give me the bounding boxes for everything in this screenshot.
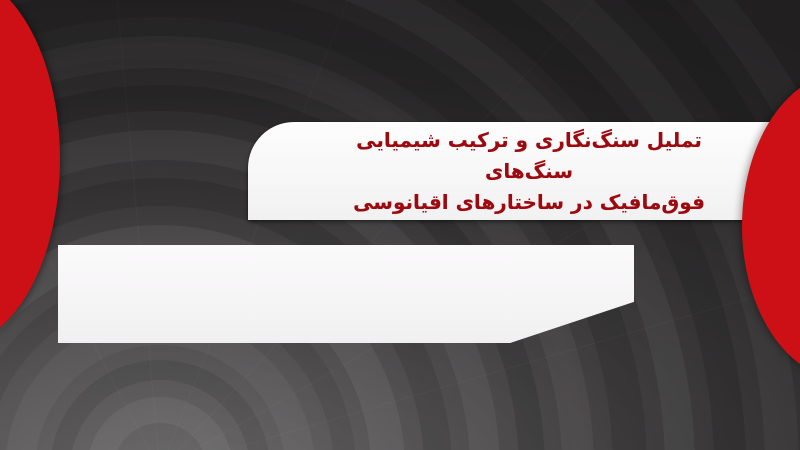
subtitle-plate-content <box>58 245 634 343</box>
title-plate: تملیل سنگ‌نگاری و ترکیب شیمیایی سنگ‌های … <box>248 122 782 220</box>
page-title: تملیل سنگ‌نگاری و ترکیب شیمیایی سنگ‌های … <box>310 125 748 218</box>
background-arc-bands <box>0 0 800 450</box>
subtitle-plate <box>58 245 634 343</box>
title-slide: تملیل سنگ‌نگاری و ترکیب شیمیایی سنگ‌های … <box>0 0 800 450</box>
